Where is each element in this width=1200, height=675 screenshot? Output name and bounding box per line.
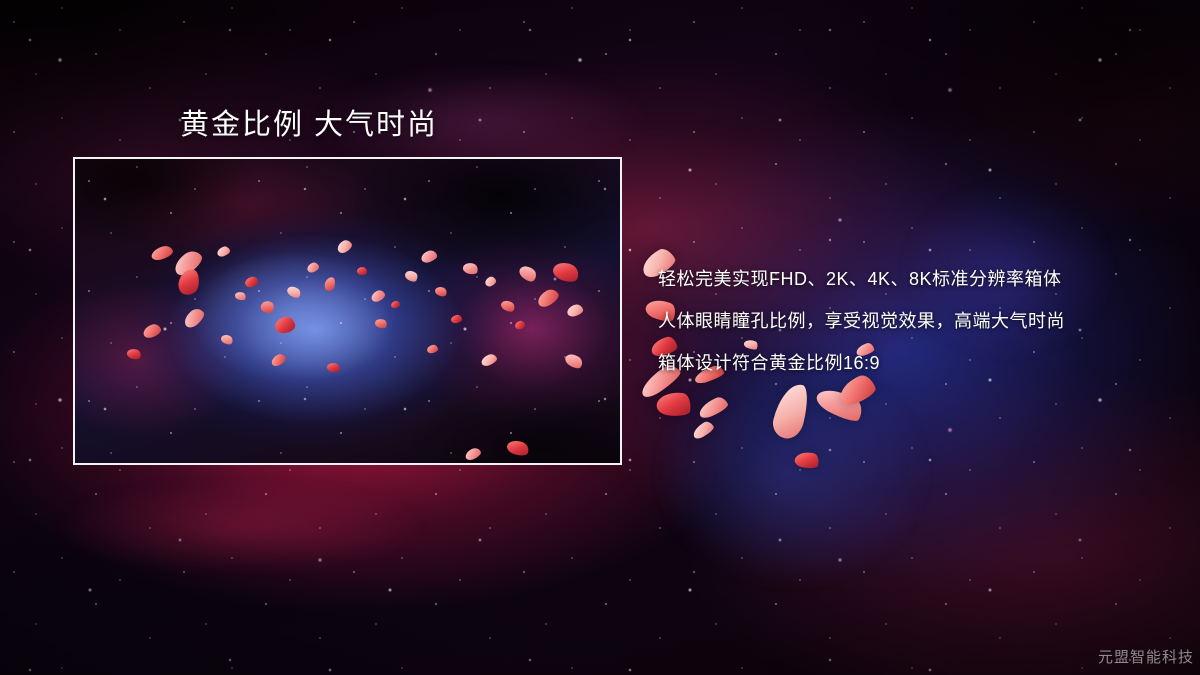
petal bbox=[794, 450, 821, 471]
watermark: 元盟智能科技 bbox=[1098, 646, 1194, 667]
body-line: 人体眼睛瞳孔比例，享受视觉效果，高端大气时尚 bbox=[658, 300, 1178, 342]
body-copy: 轻松完美实现FHD、2K、4K、8K标准分辨率箱体 人体眼睛瞳孔比例，享受视觉效… bbox=[658, 258, 1178, 384]
page-title: 黄金比例 大气时尚 bbox=[180, 101, 438, 143]
petal bbox=[770, 380, 813, 442]
presentation-slide: 黄金比例 大气时尚 轻松完美实现FHD、2K、4K、8K标准分辨率箱体 人体眼睛… bbox=[0, 0, 1200, 675]
body-line: 轻松完美实现FHD、2K、4K、8K标准分辨率箱体 bbox=[658, 258, 1178, 300]
petal bbox=[655, 390, 692, 418]
petal bbox=[696, 395, 730, 421]
petal bbox=[690, 419, 715, 440]
petal bbox=[813, 382, 867, 426]
framed-photo bbox=[73, 157, 622, 465]
body-line: 箱体设计符合黄金比例16:9 bbox=[658, 342, 1178, 384]
photo-dark-corners bbox=[75, 159, 620, 463]
